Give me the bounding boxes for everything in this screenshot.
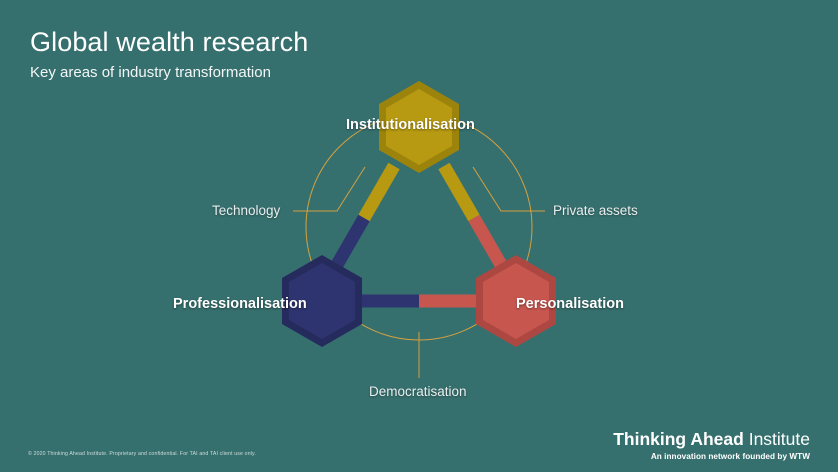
copyright-notice: © 2020 Thinking Ahead Institute. Proprie… <box>28 450 256 458</box>
connector-gold-navy-lower <box>334 218 364 270</box>
node-label-professionalisation: Professionalisation <box>173 296 307 312</box>
leader-label-private-assets: Private assets <box>553 203 638 218</box>
leader-label-democratisation: Democratisation <box>369 384 467 399</box>
connector-gold-red-lower <box>474 218 504 270</box>
triangle-diagram <box>0 0 838 472</box>
slide: Global wealth research Key areas of indu… <box>0 0 838 472</box>
leader-line-technology <box>293 167 365 211</box>
node-label-personalisation: Personalisation <box>516 296 624 312</box>
connector-gold-red-upper <box>444 166 474 218</box>
leader-line-private-assets <box>473 167 545 211</box>
brand-name-bold: Thinking Ahead <box>613 429 744 449</box>
connector-gold-navy-upper <box>364 166 394 218</box>
leader-label-technology: Technology <box>212 203 280 218</box>
brand-name: Thinking Ahead Institute <box>613 429 810 450</box>
brand-name-institute: Institute <box>749 429 810 449</box>
node-label-institutionalisation: Institutionalisation <box>346 117 475 133</box>
brand-lockup: Thinking Ahead Institute An innovation n… <box>613 429 810 462</box>
brand-tagline: An innovation network founded by WTW <box>613 451 810 462</box>
